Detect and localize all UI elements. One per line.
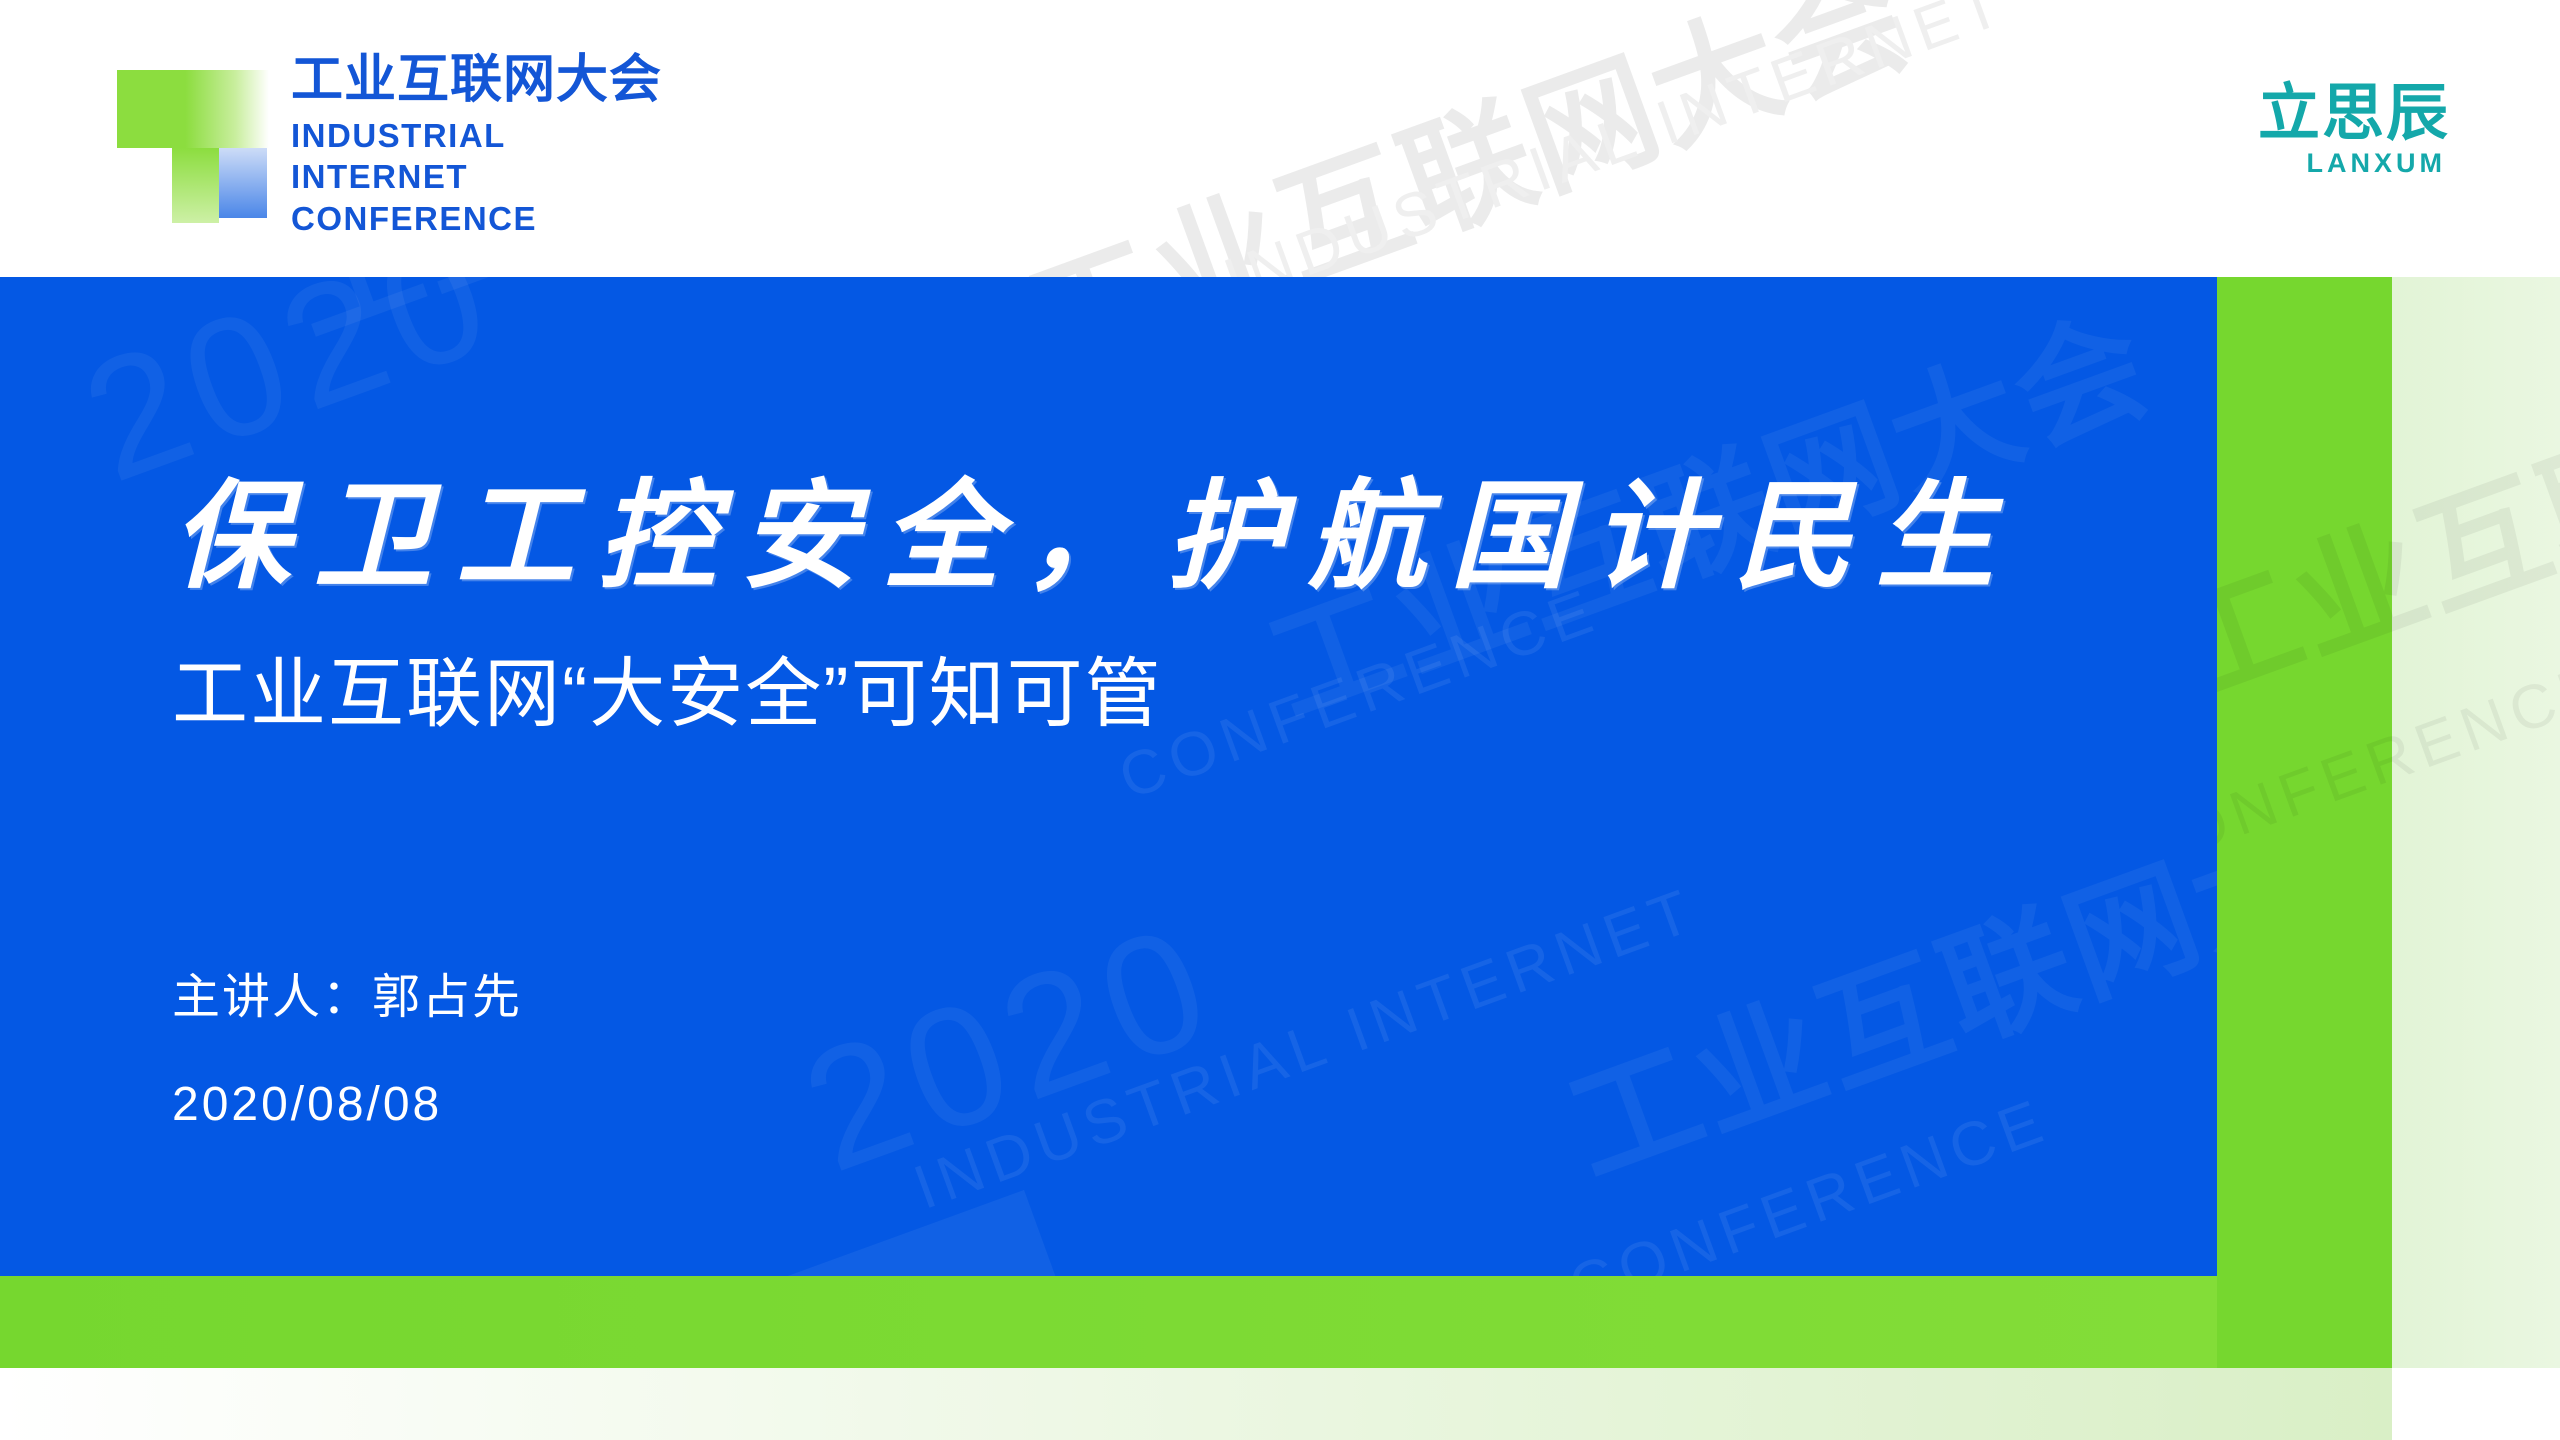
slide-sub-title: 工业互联网“大安全”可知可管 [172, 657, 1163, 733]
t-mark-bar-icon [117, 70, 269, 148]
conference-name-cn: 工业互联网大会 [291, 53, 662, 108]
t-mark-icon [97, 45, 269, 223]
brand-name-cn: 立思辰 [2258, 82, 2450, 144]
conference-logo: 工业互联网大会 INDUSTRIAL INTERNET CONFERENCE [97, 45, 662, 239]
conference-name-en-line2: INTERNET [291, 156, 662, 198]
t-mark-stem-icon [172, 148, 219, 223]
conference-name-en-line1: INDUSTRIAL [291, 115, 662, 157]
conference-name-en-line3: CONFERENCE [291, 198, 662, 240]
slide-date: 2020/08/08 [172, 1077, 442, 1132]
brand-name-en: LANXUM [2258, 150, 2450, 177]
slide-main-title: 保卫工控安全，护航国计民生 [172, 477, 2018, 595]
green-bottom-band [0, 1276, 2217, 1368]
green-tint-panel [2392, 277, 2560, 1368]
slide-header: 工业互联网大会 INDUSTRIAL INTERNET CONFERENCE 立… [0, 0, 2560, 277]
slide-presenter: 主讲人：郭占先 [172, 957, 522, 1027]
conference-logo-text: 工业互联网大会 INDUSTRIAL INTERNET CONFERENCE [291, 45, 662, 239]
slide-content: 保卫工控安全，护航国计民生 工业互联网“大安全”可知可管 主讲人：郭占先 202… [0, 277, 2217, 1276]
t-mark-square-icon [219, 148, 267, 218]
brand-logo: 立思辰 LANXUM [2258, 82, 2450, 177]
green-side-band [2217, 277, 2392, 1440]
presentation-slide: 工业互联网大会 INDUSTRIAL INTERNET 工业互联网大会 CONF… [0, 0, 2560, 1440]
green-bottom-tint [0, 1368, 2392, 1440]
